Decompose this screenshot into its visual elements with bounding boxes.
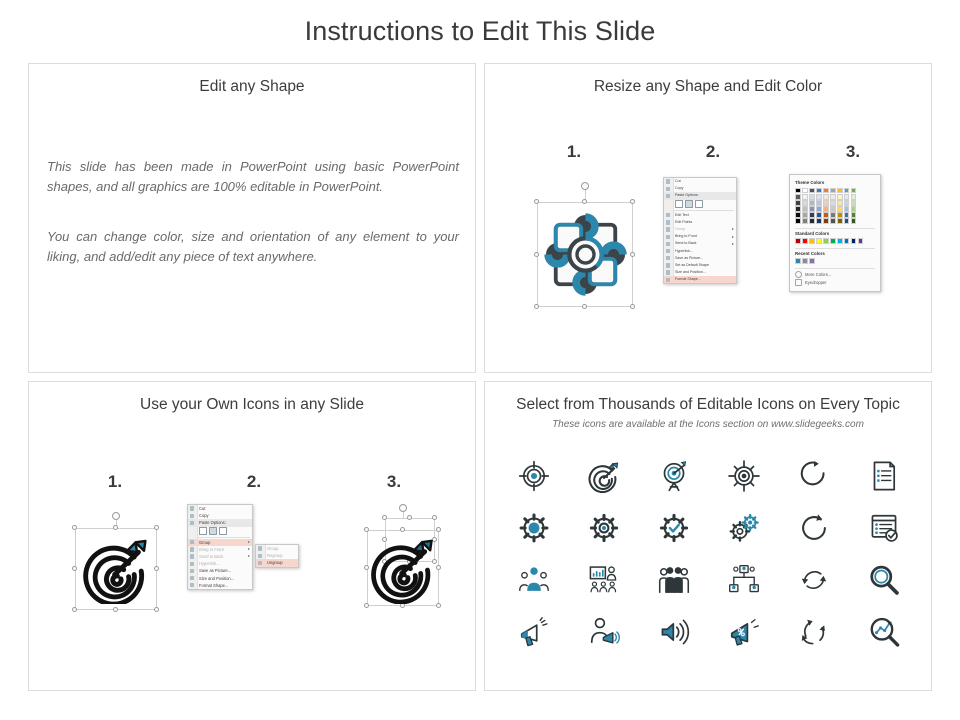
standard-swatch-5[interactable] xyxy=(830,238,836,243)
panel-heading-icon-library: Select from Thousands of Editable Icons … xyxy=(485,396,931,414)
recent-swatch-0[interactable] xyxy=(795,258,801,263)
edit-shape-paragraph-2: You can change color, size and orientati… xyxy=(47,227,459,267)
menu-item-icon xyxy=(190,576,194,580)
org-chart-icon[interactable] xyxy=(727,563,761,597)
menu-item-icon xyxy=(190,521,194,525)
refresh-arrow-icon[interactable] xyxy=(797,459,831,493)
tint-swatch-4-3[interactable] xyxy=(816,218,822,224)
menu-item-icon xyxy=(190,554,194,558)
icon-library-grid xyxy=(499,450,919,658)
handle-w[interactable] xyxy=(72,566,77,571)
handle-se[interactable] xyxy=(154,607,159,612)
divider xyxy=(795,228,875,229)
checklist-document-icon[interactable] xyxy=(867,459,901,493)
standard-swatch-1[interactable] xyxy=(802,238,808,243)
handle-arrow-nw[interactable] xyxy=(382,515,387,520)
menu-item-bring-to-front[interactable]: Bring to Front xyxy=(188,546,252,553)
menu-item-paste-options[interactable]: Paste Options: xyxy=(188,519,252,526)
speaker-sound-icon[interactable] xyxy=(657,615,691,649)
menu-item-cut[interactable]: Cut xyxy=(188,505,252,512)
icon-cell[interactable] xyxy=(639,606,709,658)
paste-picture-icon[interactable] xyxy=(209,527,217,536)
icon-cell[interactable] xyxy=(849,606,919,658)
theme-tints-grid[interactable] xyxy=(795,194,875,224)
theme-tint-row-4 xyxy=(795,218,875,224)
gear-check-icon[interactable] xyxy=(657,511,691,545)
menu-item-icon xyxy=(666,220,670,224)
menu-item-label: Ungroup xyxy=(267,560,283,565)
tint-swatch-4-6[interactable] xyxy=(837,218,843,224)
dartboard-arrow-icon-ungrouped[interactable] xyxy=(369,532,437,604)
menu-item-format-shape[interactable]: Format Shape... xyxy=(188,582,252,589)
menu-item-icon xyxy=(666,194,670,198)
more-colors-icon xyxy=(795,271,802,278)
menu-item-label: Save as Picture... xyxy=(199,568,231,573)
standard-swatch-8[interactable] xyxy=(851,238,857,243)
menu-item-icon xyxy=(666,256,670,260)
handle-nw[interactable] xyxy=(72,525,77,530)
menu-item-send-to-back[interactable]: Send to Back xyxy=(188,553,252,560)
menu-item-label: Send to Back xyxy=(675,241,696,245)
menu-item-icon xyxy=(190,506,194,510)
menu-item-cut[interactable]: Cut xyxy=(664,178,736,185)
standard-colors-row[interactable] xyxy=(795,238,875,243)
chevron-right-icon xyxy=(732,243,734,245)
theme-swatch-4[interactable] xyxy=(823,188,829,193)
recent-colors-row[interactable] xyxy=(795,258,875,263)
chevron-right-icon xyxy=(248,548,250,550)
page-title: Instructions to Edit This Slide xyxy=(0,16,960,47)
menu-item-format-shape[interactable]: Format Shape... xyxy=(664,276,736,283)
chevron-right-icon xyxy=(248,555,250,557)
menu-item-label: Send to Back xyxy=(199,554,223,559)
icon-cell[interactable] xyxy=(779,502,849,554)
icon-cell[interactable] xyxy=(779,606,849,658)
icon-cell[interactable] xyxy=(849,450,919,502)
handle-s[interactable] xyxy=(113,607,118,612)
menu-item-icon xyxy=(666,278,670,282)
menu-item-label: Group xyxy=(675,227,685,231)
menu-item-label: Regroup xyxy=(267,553,283,558)
menu-item-icon xyxy=(666,179,670,183)
recent-swatch-2[interactable] xyxy=(809,258,815,263)
icons-step-2-number: 2. xyxy=(234,472,274,492)
recent-swatch-1[interactable] xyxy=(802,258,808,263)
panel-resize-shape-edit-color: Resize any Shape and Edit Color 1. 2. 3. xyxy=(484,63,932,373)
menu-item-label: Bring to Front xyxy=(199,547,224,552)
icon-cell[interactable] xyxy=(709,606,779,658)
presentation-audience-icon[interactable] xyxy=(587,563,621,597)
chevron-right-icon xyxy=(732,228,734,230)
people-group-icon[interactable] xyxy=(517,563,551,597)
icon-cell[interactable] xyxy=(849,554,919,606)
tint-swatch-4-7[interactable] xyxy=(844,218,850,224)
menu-item-ungroup[interactable]: Ungroup xyxy=(256,559,298,566)
group-submenu[interactable]: GroupRegroupUngroup xyxy=(255,544,299,568)
gear-outline-icon[interactable] xyxy=(587,511,621,545)
editable-shape-graphic[interactable] xyxy=(543,207,628,302)
dartboard-arrow-icon[interactable] xyxy=(587,459,621,493)
rotate-handle[interactable] xyxy=(581,182,589,190)
megaphone-icon[interactable] xyxy=(517,615,551,649)
tint-swatch-4-0[interactable] xyxy=(795,218,801,224)
paste-keep-formatting-icon[interactable] xyxy=(199,527,207,536)
handle-arrow-n[interactable] xyxy=(407,515,412,520)
menu-item-group[interactable]: Group xyxy=(188,539,252,546)
cycle-arrows-icon[interactable] xyxy=(797,615,831,649)
theme-swatch-5[interactable] xyxy=(830,188,836,193)
theme-swatch-0[interactable] xyxy=(795,188,801,193)
handle-e[interactable] xyxy=(630,252,635,257)
menu-item-edit-text[interactable]: Edit Text xyxy=(664,212,736,219)
eyedropper-option[interactable]: Eyedropper xyxy=(795,279,875,287)
handle-ne[interactable] xyxy=(154,525,159,530)
more-colors-label: More Colors... xyxy=(805,272,831,277)
icon-cell[interactable] xyxy=(709,450,779,502)
team-group-icon[interactable] xyxy=(657,563,691,597)
menu-item-size-and-position[interactable]: Size and Position... xyxy=(664,269,736,276)
menu-item-icon xyxy=(190,540,194,544)
menu-item-copy[interactable]: Copy xyxy=(664,185,736,192)
icon-cell[interactable] xyxy=(639,554,709,606)
panel-edit-any-shape: Edit any Shape This slide has been made … xyxy=(28,63,476,373)
standard-swatch-2[interactable] xyxy=(809,238,815,243)
menu-item-icon xyxy=(258,554,262,558)
menu-item-label: Paste Options: xyxy=(199,520,226,525)
icons-step-3-number: 3. xyxy=(374,472,414,492)
recent-colors-label: Recent Colors xyxy=(795,251,875,256)
icon-cell[interactable] xyxy=(499,502,569,554)
paste-keep-text-icon[interactable] xyxy=(219,527,227,536)
magnifier-icon[interactable] xyxy=(867,563,901,597)
menu-item-set-as-default-shape[interactable]: Set as Default Shape xyxy=(664,262,736,269)
menu-item-group[interactable]: Group xyxy=(256,545,298,552)
menu-item-send-to-back[interactable]: Send to Back xyxy=(664,240,736,247)
icon-cell[interactable] xyxy=(709,554,779,606)
handle-se[interactable] xyxy=(630,304,635,309)
panel-subheading-icon-library: These icons are available at the Icons s… xyxy=(485,419,931,430)
theme-colors-label: Theme Colors xyxy=(795,180,875,185)
icon-cell[interactable] xyxy=(569,450,639,502)
menu-item-label: Edit Text xyxy=(675,213,689,217)
menu-item-icon xyxy=(190,562,194,566)
menu-item-label: Group xyxy=(267,546,278,551)
handle-sw[interactable] xyxy=(72,607,77,612)
menu-item-label: Size and Position... xyxy=(675,270,706,274)
more-colors-option[interactable]: More Colors... xyxy=(795,271,875,279)
rotate-handle[interactable] xyxy=(399,504,407,512)
menu-item-icon xyxy=(258,546,262,550)
menu-item-icon xyxy=(666,227,670,231)
menu-item-icon xyxy=(666,235,670,239)
handle-sw[interactable] xyxy=(534,304,539,309)
icon-cell[interactable] xyxy=(639,502,709,554)
paste-picture-icon[interactable] xyxy=(685,200,693,209)
powerpoint-context-menu[interactable]: CutCopyPaste Options:Edit TextEdit Point… xyxy=(663,177,737,284)
tint-swatch-4-2[interactable] xyxy=(809,218,815,224)
menu-item-label: Bring to Front xyxy=(675,234,697,238)
panel-heading-own-icons: Use your Own Icons in any Slide xyxy=(29,396,475,414)
menu-item-label: Set as Default Shape xyxy=(675,263,709,267)
checklist-approved-icon[interactable] xyxy=(867,511,901,545)
group-context-menu[interactable]: CutCopyPaste Options:GroupBring to Front… xyxy=(187,504,253,590)
panel-heading-resize-shape: Resize any Shape and Edit Color xyxy=(485,78,931,96)
panel-heading-edit-shape: Edit any Shape xyxy=(29,78,475,96)
menu-item-icon xyxy=(666,249,670,253)
menu-item-label: Hyperlink... xyxy=(675,249,693,253)
icon-cell[interactable] xyxy=(569,554,639,606)
menu-item-hyperlink[interactable]: Hyperlink... xyxy=(188,560,252,567)
theme-swatch-6[interactable] xyxy=(837,188,843,193)
menu-item-icon xyxy=(666,242,670,246)
standard-swatch-3[interactable] xyxy=(816,238,822,243)
icon-cell[interactable] xyxy=(779,450,849,502)
menu-item-label: Copy xyxy=(675,186,683,190)
menu-item-icon xyxy=(190,547,194,551)
menu-item-paste-options[interactable]: Paste Options: xyxy=(664,192,736,199)
divider xyxy=(795,268,875,269)
tint-swatch-4-1[interactable] xyxy=(802,218,808,224)
icon-cell[interactable] xyxy=(849,502,919,554)
icons-step-1-art xyxy=(65,512,183,622)
menu-item-icon xyxy=(190,583,194,587)
standard-swatch-4[interactable] xyxy=(823,238,829,243)
target-crosshair-icon[interactable] xyxy=(517,459,551,493)
crosshair-dot-icon[interactable] xyxy=(727,459,761,493)
menu-item-icon xyxy=(190,569,194,573)
person-megaphone-icon[interactable] xyxy=(587,615,621,649)
rotate-handle[interactable] xyxy=(112,512,120,520)
menu-item-copy[interactable]: Copy xyxy=(188,512,252,519)
theme-colors-row[interactable] xyxy=(795,188,875,193)
menu-item-label: Paste Options: xyxy=(675,193,699,197)
menu-item-label: Cut xyxy=(675,179,681,183)
menu-item-label: Save as Picture... xyxy=(675,256,703,260)
standard-swatch-9[interactable] xyxy=(858,238,864,243)
menu-item-save-as-picture[interactable]: Save as Picture... xyxy=(664,255,736,262)
megaphone-discount-icon[interactable] xyxy=(727,615,761,649)
icons-step-1-number: 1. xyxy=(95,472,135,492)
edit-shape-paragraph-1: This slide has been made in PowerPoint u… xyxy=(47,157,459,197)
menu-item-size-and-position[interactable]: Size and Position... xyxy=(188,575,252,582)
paste-options-row[interactable] xyxy=(664,200,736,209)
handle-nw[interactable] xyxy=(534,199,539,204)
menu-item-icon xyxy=(666,187,670,191)
theme-swatch-2[interactable] xyxy=(809,188,815,193)
double-gear-icon[interactable] xyxy=(727,511,761,545)
target-stand-icon[interactable] xyxy=(657,459,691,493)
icon-cell[interactable] xyxy=(639,450,709,502)
icon-cell[interactable] xyxy=(779,554,849,606)
handle-n[interactable] xyxy=(582,199,587,204)
dartboard-arrow-icon[interactable] xyxy=(81,534,151,604)
resize-step-2-number: 2. xyxy=(693,142,733,162)
handle-w[interactable] xyxy=(534,252,539,257)
menu-item-label: Group xyxy=(199,540,210,545)
resize-step-3-number: 3. xyxy=(833,142,873,162)
paste-keep-text-icon[interactable] xyxy=(695,200,703,209)
menu-item-icon xyxy=(190,514,194,518)
menu-item-edit-points[interactable]: Edit Points xyxy=(664,219,736,226)
menu-item-label: Copy xyxy=(199,513,209,518)
handle-s[interactable] xyxy=(582,304,587,309)
icon-cell[interactable] xyxy=(499,606,569,658)
divider xyxy=(795,248,875,249)
chevron-right-icon xyxy=(732,236,734,238)
sync-arrows-icon[interactable] xyxy=(797,563,831,597)
menu-item-icon xyxy=(258,561,262,565)
tint-swatch-4-4[interactable] xyxy=(823,218,829,224)
menu-item-hyperlink[interactable]: Hyperlink... xyxy=(664,248,736,255)
standard-swatch-0[interactable] xyxy=(795,238,801,243)
handle-n[interactable] xyxy=(113,525,118,530)
menu-item-label: Size and Position... xyxy=(199,576,234,581)
menu-item-label: Edit Points xyxy=(675,220,692,224)
standard-swatch-7[interactable] xyxy=(844,238,850,243)
paste-keep-formatting-icon[interactable] xyxy=(675,200,683,209)
menu-separator xyxy=(666,210,734,211)
menu-separator xyxy=(190,537,250,538)
gear-filled-icon[interactable] xyxy=(517,511,551,545)
menu-item-regroup[interactable]: Regroup xyxy=(256,552,298,559)
icon-cell[interactable] xyxy=(569,606,639,658)
menu-item-label: Cut xyxy=(199,506,205,511)
icon-cell[interactable] xyxy=(499,450,569,502)
panel-icon-library: Select from Thousands of Editable Icons … xyxy=(484,381,932,691)
icons-step-3-art xyxy=(341,508,471,624)
menu-item-icon xyxy=(666,213,670,217)
handle-ne[interactable] xyxy=(630,199,635,204)
icon-cell[interactable] xyxy=(499,554,569,606)
refresh-circle-icon[interactable] xyxy=(797,511,831,545)
handle-e[interactable] xyxy=(154,566,159,571)
menu-item-icon xyxy=(666,270,670,274)
slide-canvas: Instructions to Edit This Slide Edit any… xyxy=(0,0,960,720)
menu-item-bring-to-front[interactable]: Bring to Front xyxy=(664,233,736,240)
theme-swatch-1[interactable] xyxy=(802,188,808,193)
standard-swatch-6[interactable] xyxy=(837,238,843,243)
eyedropper-icon xyxy=(795,279,802,286)
resize-step-1-number: 1. xyxy=(554,142,594,162)
powerpoint-color-picker[interactable]: Theme Colors Standard Colors Recent Colo… xyxy=(789,174,881,292)
menu-item-save-as-picture[interactable]: Save as Picture... xyxy=(188,567,252,574)
theme-swatch-8[interactable] xyxy=(851,188,857,193)
resize-step-1-art xyxy=(519,179,651,349)
eyedropper-label: Eyedropper xyxy=(805,280,827,285)
menu-item-label: Format Shape... xyxy=(199,583,228,588)
theme-swatch-3[interactable] xyxy=(816,188,822,193)
icon-cell[interactable] xyxy=(569,502,639,554)
magnifier-chart-icon[interactable] xyxy=(867,615,901,649)
handle-arrow-ne[interactable] xyxy=(432,515,437,520)
menu-item-label: Hyperlink... xyxy=(199,561,219,566)
tint-swatch-4-8[interactable] xyxy=(851,218,857,224)
tint-swatch-4-5[interactable] xyxy=(830,218,836,224)
icon-cell[interactable] xyxy=(709,502,779,554)
chevron-right-icon xyxy=(248,541,250,543)
panel-use-own-icons: Use your Own Icons in any Slide 1. 2. 3. xyxy=(28,381,476,691)
menu-item-label: Format Shape... xyxy=(675,277,701,281)
menu-item-icon xyxy=(666,263,670,267)
standard-colors-label: Standard Colors xyxy=(795,231,875,236)
theme-swatch-7[interactable] xyxy=(844,188,850,193)
menu-item-group[interactable]: Group xyxy=(664,226,736,233)
